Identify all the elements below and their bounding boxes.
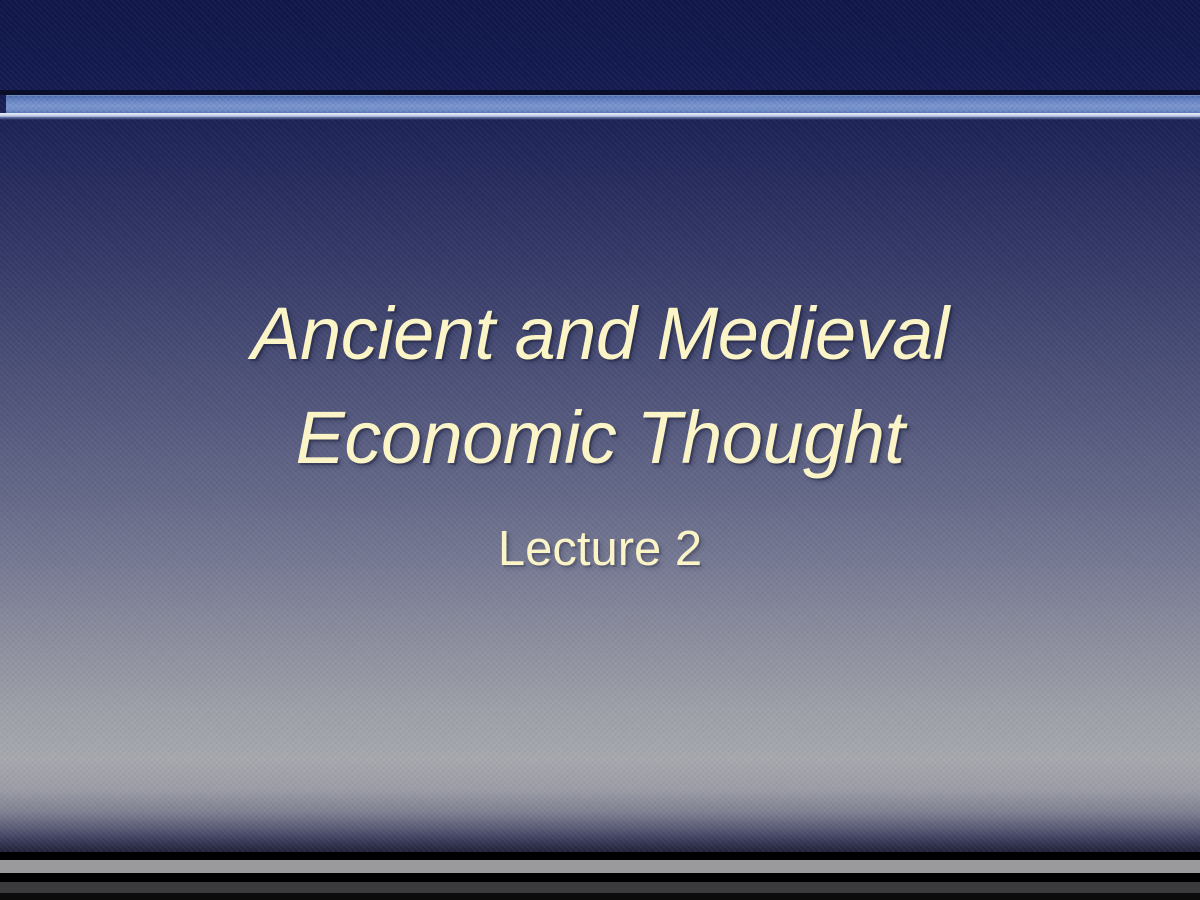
slide-text-block: Ancient and Medieval Economic Thought Le… [0,0,1200,852]
slide-title: Ancient and Medieval Economic Thought [100,282,1100,490]
presentation-slide: Ancient and Medieval Economic Thought Le… [0,0,1200,900]
bottom-band-black-bottom [0,893,1200,900]
bottom-band-dark-gray [0,882,1200,893]
bottom-band-black-middle [0,873,1200,882]
slide-subtitle: Lecture 2 [100,518,1100,580]
bottom-frame-bands [0,852,1200,900]
bottom-band-gray [0,860,1200,873]
bottom-band-black-top [0,852,1200,860]
